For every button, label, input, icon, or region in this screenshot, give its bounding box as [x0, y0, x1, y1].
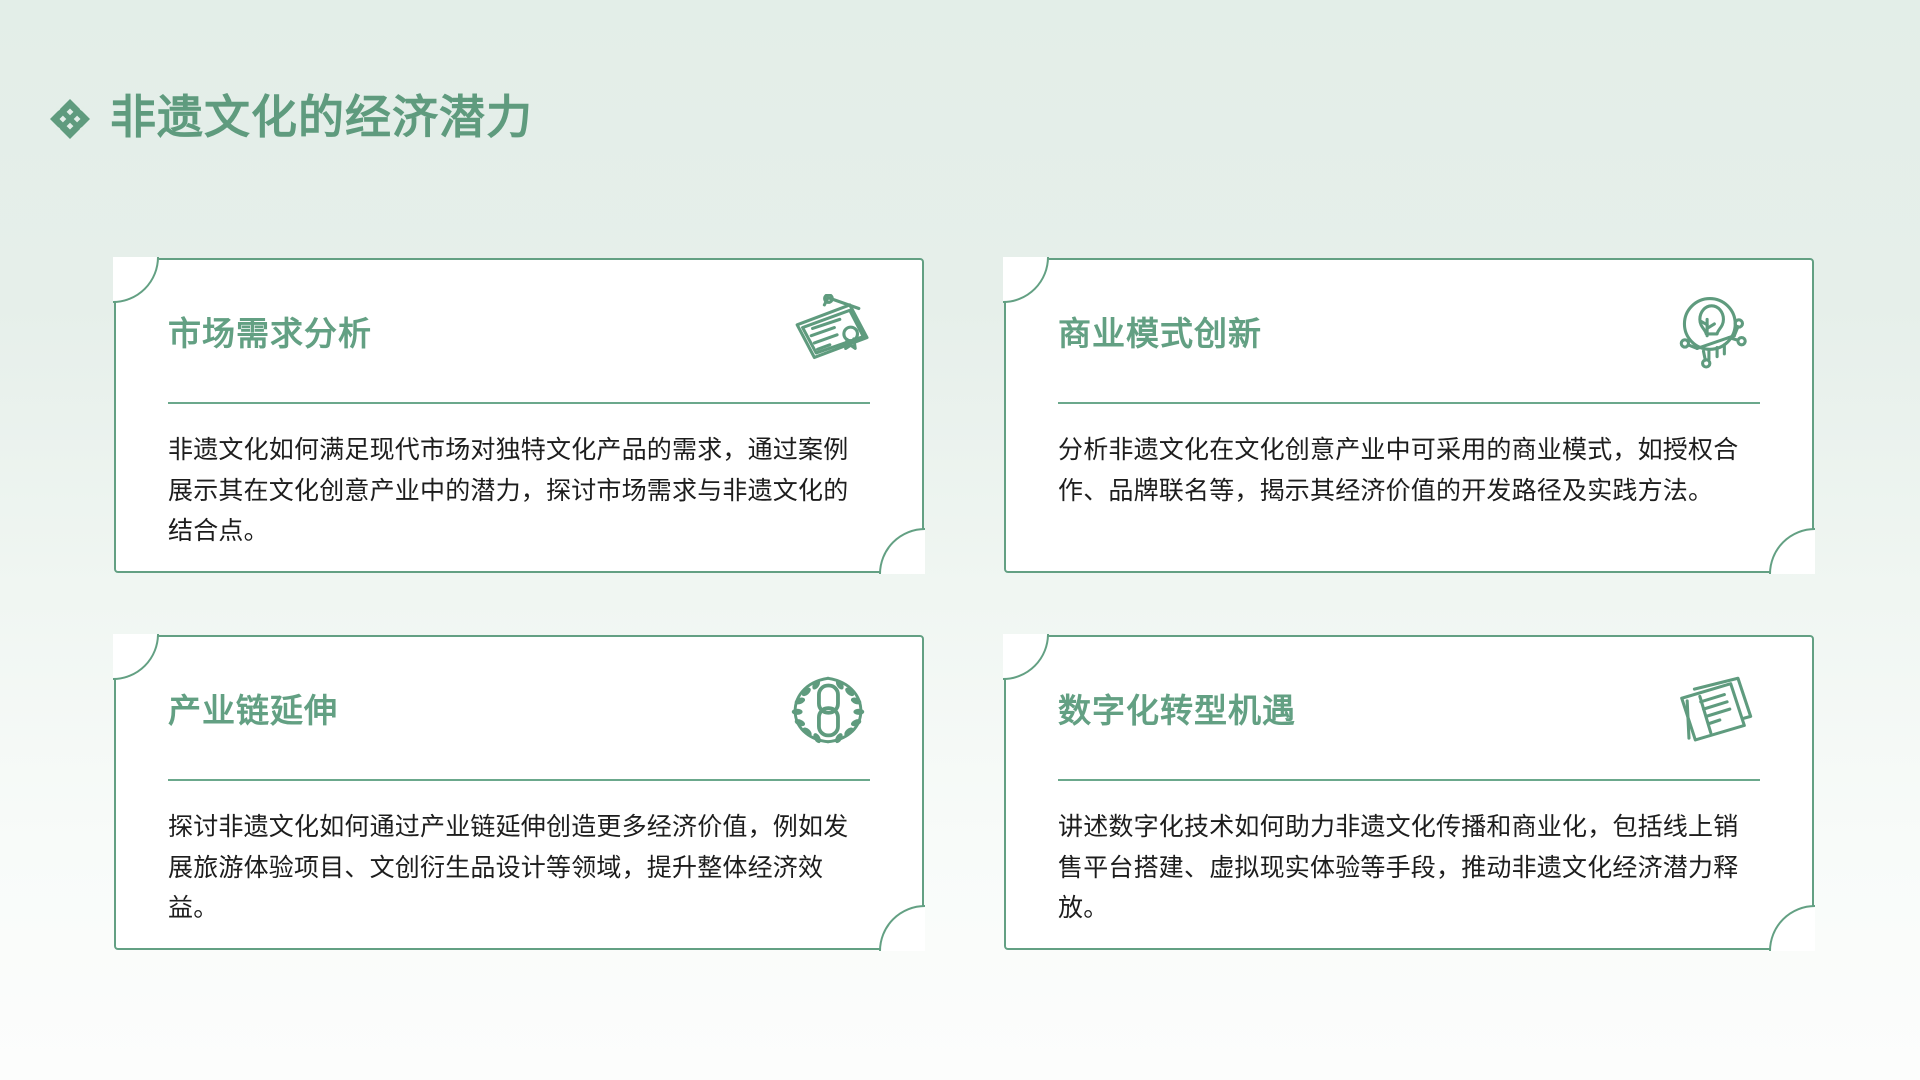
- card-title: 商业模式创新: [1058, 306, 1262, 354]
- quatrefoil-diamond-icon: [48, 97, 92, 141]
- stacked-documents-icon: [1672, 671, 1764, 749]
- card-business-model-innovation[interactable]: 商业模式创新: [1004, 258, 1814, 573]
- card-title: 数字化转型机遇: [1058, 683, 1296, 731]
- lightbulb-circuit-icon: [1672, 294, 1764, 372]
- card-divider: [1058, 402, 1760, 404]
- corner-notch-top-left: [1003, 257, 1049, 303]
- card-body: 分析非遗文化在文化创意产业中可采用的商业模式，如授权合作、品牌联名等，揭示其经济…: [1058, 430, 1760, 511]
- corner-notch-bottom-right: [1769, 905, 1815, 951]
- card-industry-chain-extension[interactable]: 产业链延伸: [114, 635, 924, 950]
- corner-notch-top-left: [113, 634, 159, 680]
- laurel-wreath-chain-icon: [782, 671, 874, 749]
- corner-notch-bottom-right: [1769, 528, 1815, 574]
- card-market-demand[interactable]: 市场需求分析: [114, 258, 924, 573]
- card-divider: [168, 779, 870, 781]
- card-title: 市场需求分析: [168, 306, 372, 354]
- card-title: 产业链延伸: [168, 683, 338, 731]
- card-header: 数字化转型机遇: [1058, 683, 1760, 759]
- corner-notch-top-left: [113, 257, 159, 303]
- card-body: 讲述数字化技术如何助力非遗文化传播和商业化，包括线上销售平台搭建、虚拟现实体验等…: [1058, 807, 1760, 929]
- card-header: 产业链延伸: [168, 683, 870, 759]
- corner-notch-top-left: [1003, 634, 1049, 680]
- card-header: 市场需求分析: [168, 306, 870, 382]
- page-header: 非遗文化的经济潜力: [48, 86, 533, 148]
- page-title: 非遗文化的经济潜力: [110, 94, 533, 140]
- card-digital-transformation[interactable]: 数字化转型机遇 讲述数字化技术如何助力非遗文化传播和商业: [1004, 635, 1814, 950]
- corner-notch-bottom-right: [879, 905, 925, 951]
- card-header: 商业模式创新: [1058, 306, 1760, 382]
- certificate-plaque-icon: [782, 294, 874, 372]
- card-divider: [168, 402, 870, 404]
- card-body: 非遗文化如何满足现代市场对独特文化产品的需求，通过案例展示其在文化创意产业中的潜…: [168, 430, 870, 552]
- card-grid: 市场需求分析: [114, 258, 1814, 950]
- card-body: 探讨非遗文化如何通过产业链延伸创造更多经济价值，例如发展旅游体验项目、文创衍生品…: [168, 807, 870, 929]
- corner-notch-bottom-right: [879, 528, 925, 574]
- card-divider: [1058, 779, 1760, 781]
